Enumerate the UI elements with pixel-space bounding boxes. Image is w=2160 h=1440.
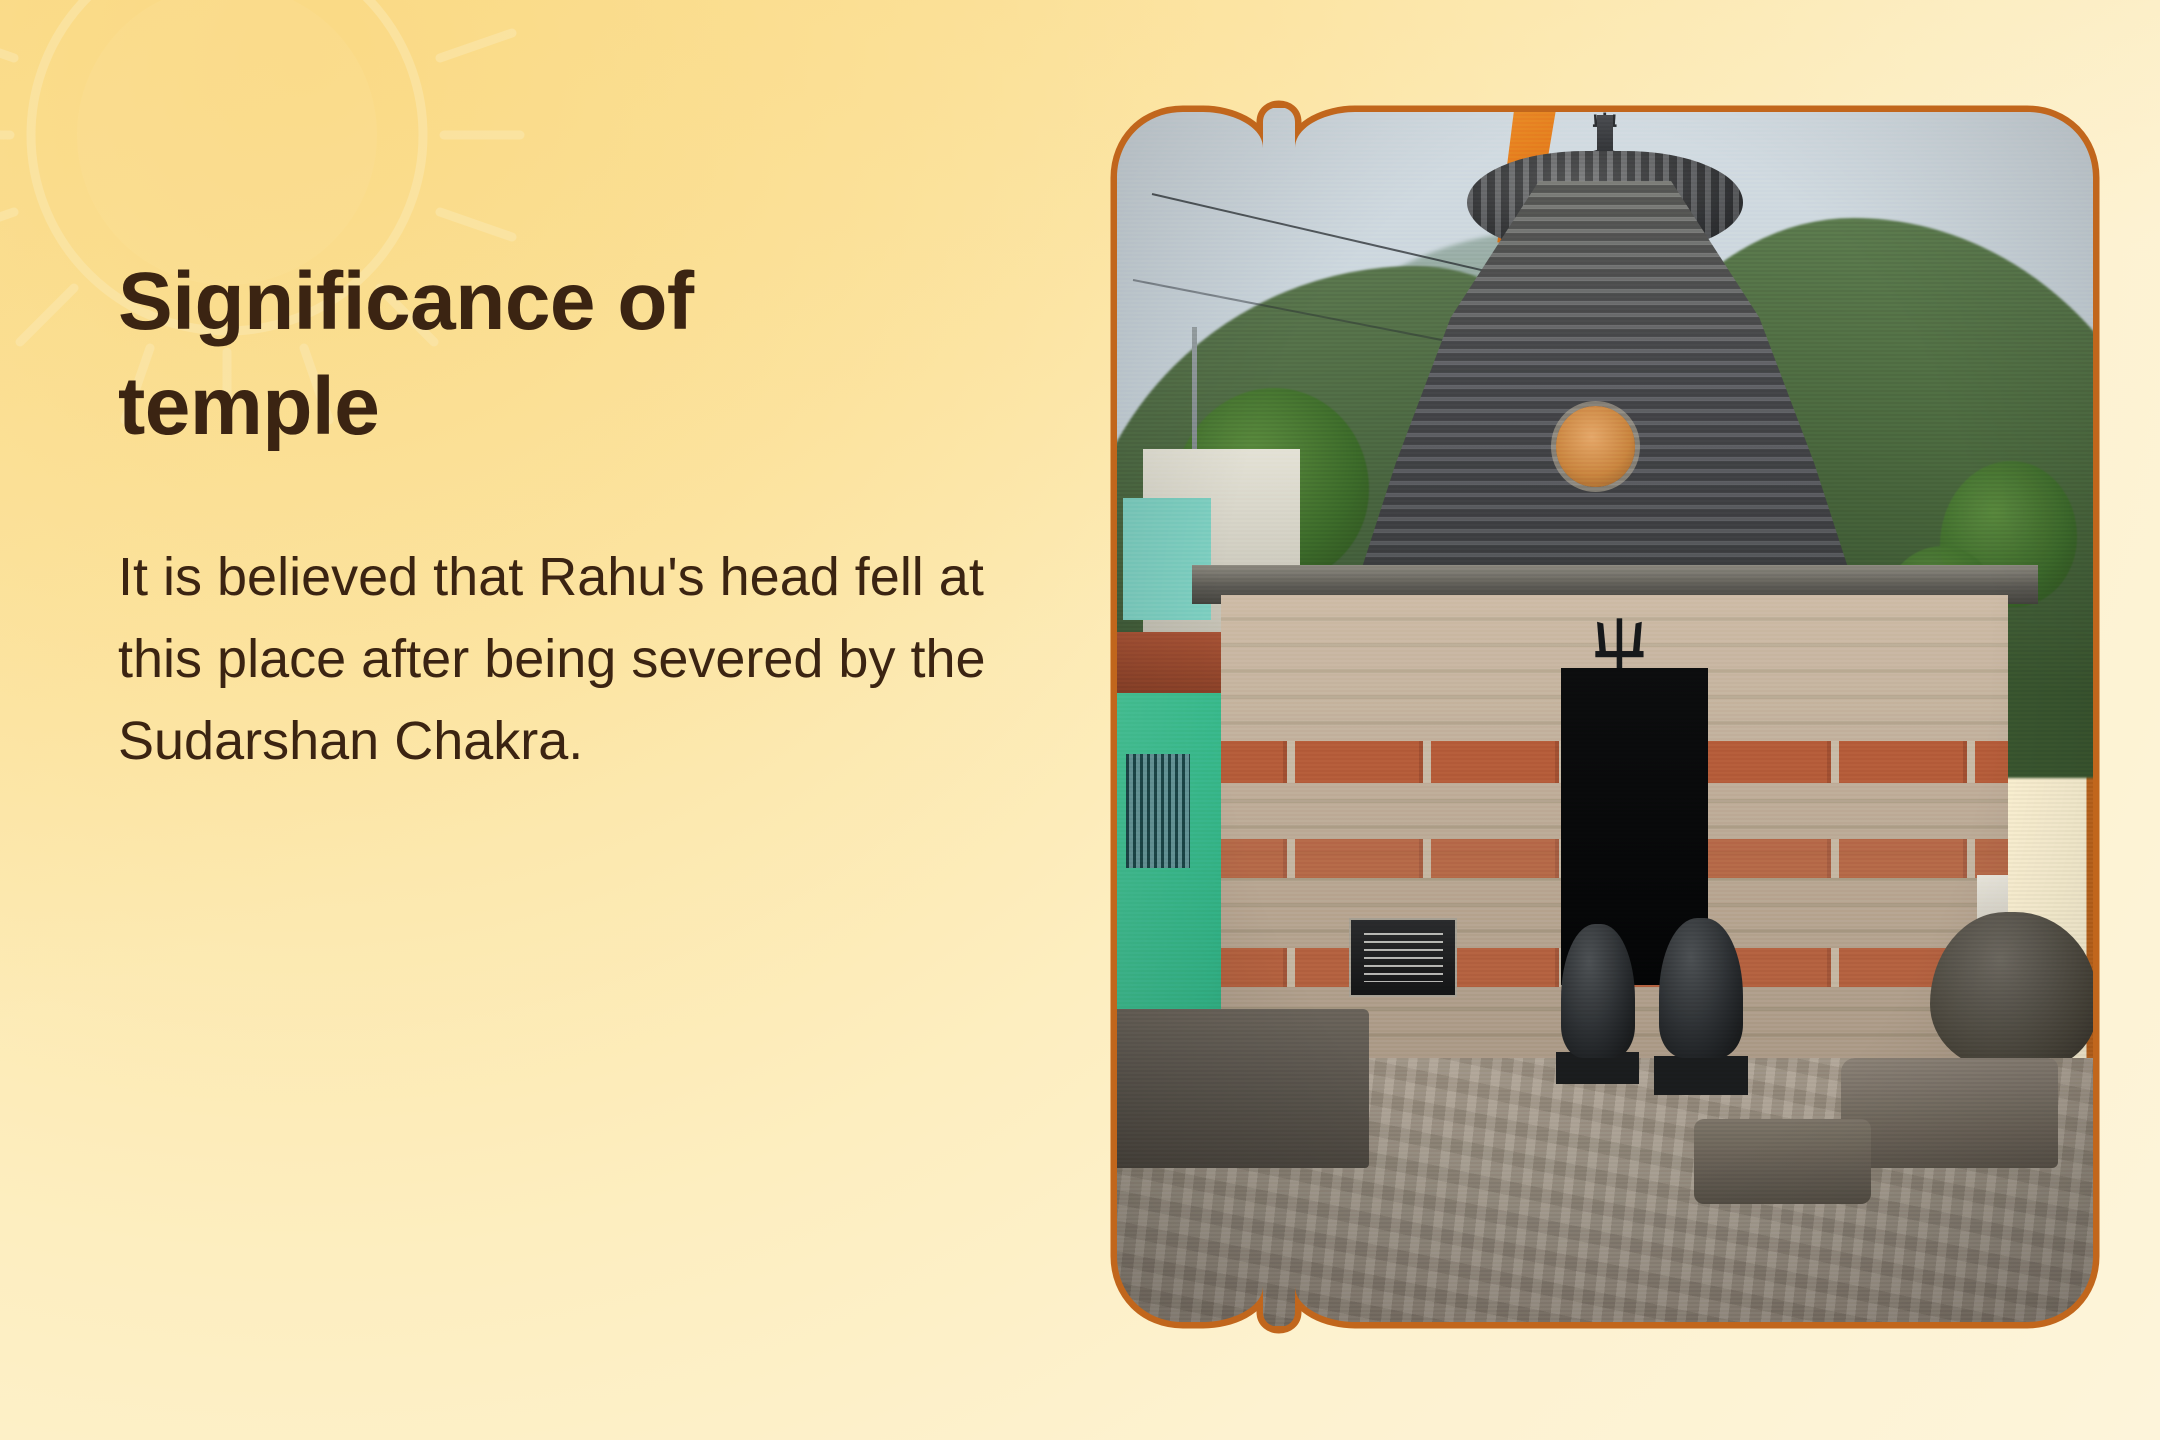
memorial-plaque <box>1349 918 1457 997</box>
temple-photo <box>1113 108 2097 1326</box>
body-paragraph: It is believed that Rahu's head fell at … <box>118 536 988 782</box>
temple-scene <box>1113 108 2097 1326</box>
stone-slab <box>1694 1119 1871 1204</box>
temple-photo-frame <box>1113 108 2097 1326</box>
page-title: Significance of temple <box>118 250 818 460</box>
stone-slab <box>1841 1058 2057 1168</box>
boulder <box>1930 912 2097 1070</box>
nandi-statue <box>1659 918 1743 1058</box>
deity-medallion <box>1556 406 1635 486</box>
stone-plinth <box>1113 1009 1369 1167</box>
text-column: Significance of temple It is believed th… <box>118 250 998 782</box>
plaque-inscription <box>1364 933 1443 981</box>
slide-canvas: Significance of temple It is believed th… <box>0 0 2160 1440</box>
nandi-statue <box>1561 924 1635 1058</box>
statue-pedestal <box>1654 1056 1747 1095</box>
